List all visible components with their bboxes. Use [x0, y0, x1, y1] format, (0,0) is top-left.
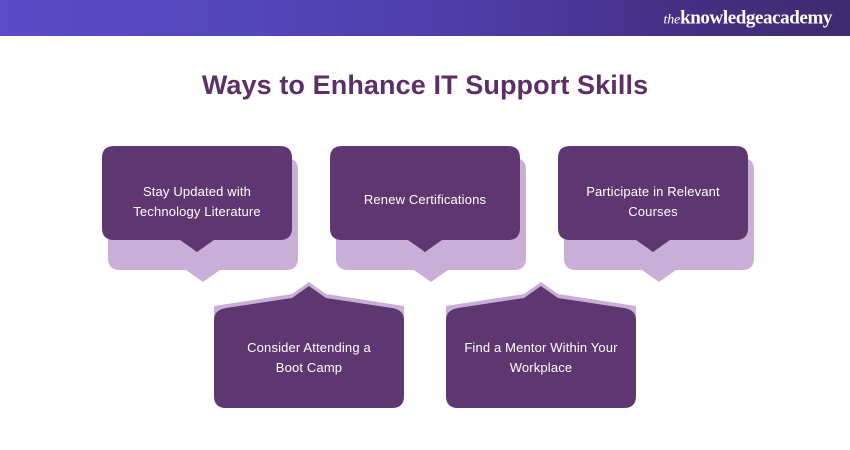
diagram-container: Stay Updated with Technology Literature …: [0, 0, 850, 450]
card-4-label: Consider Attending a Boot Camp: [208, 338, 410, 378]
diagram-card-3[interactable]: Participate in Relevant Courses: [552, 146, 754, 270]
diagram-card-5[interactable]: Find a Mentor Within Your Workplace: [440, 282, 642, 414]
card-3-label: Participate in Relevant Courses: [552, 182, 754, 222]
card-1-label: Stay Updated with Technology Literature: [96, 182, 298, 222]
diagram-card-1[interactable]: Stay Updated with Technology Literature: [96, 146, 298, 270]
diagram-card-4[interactable]: Consider Attending a Boot Camp: [208, 282, 410, 414]
diagram-card-2[interactable]: Renew Certifications: [324, 146, 526, 270]
card-5-label: Find a Mentor Within Your Workplace: [440, 338, 642, 378]
card-2-label: Renew Certifications: [324, 190, 526, 210]
